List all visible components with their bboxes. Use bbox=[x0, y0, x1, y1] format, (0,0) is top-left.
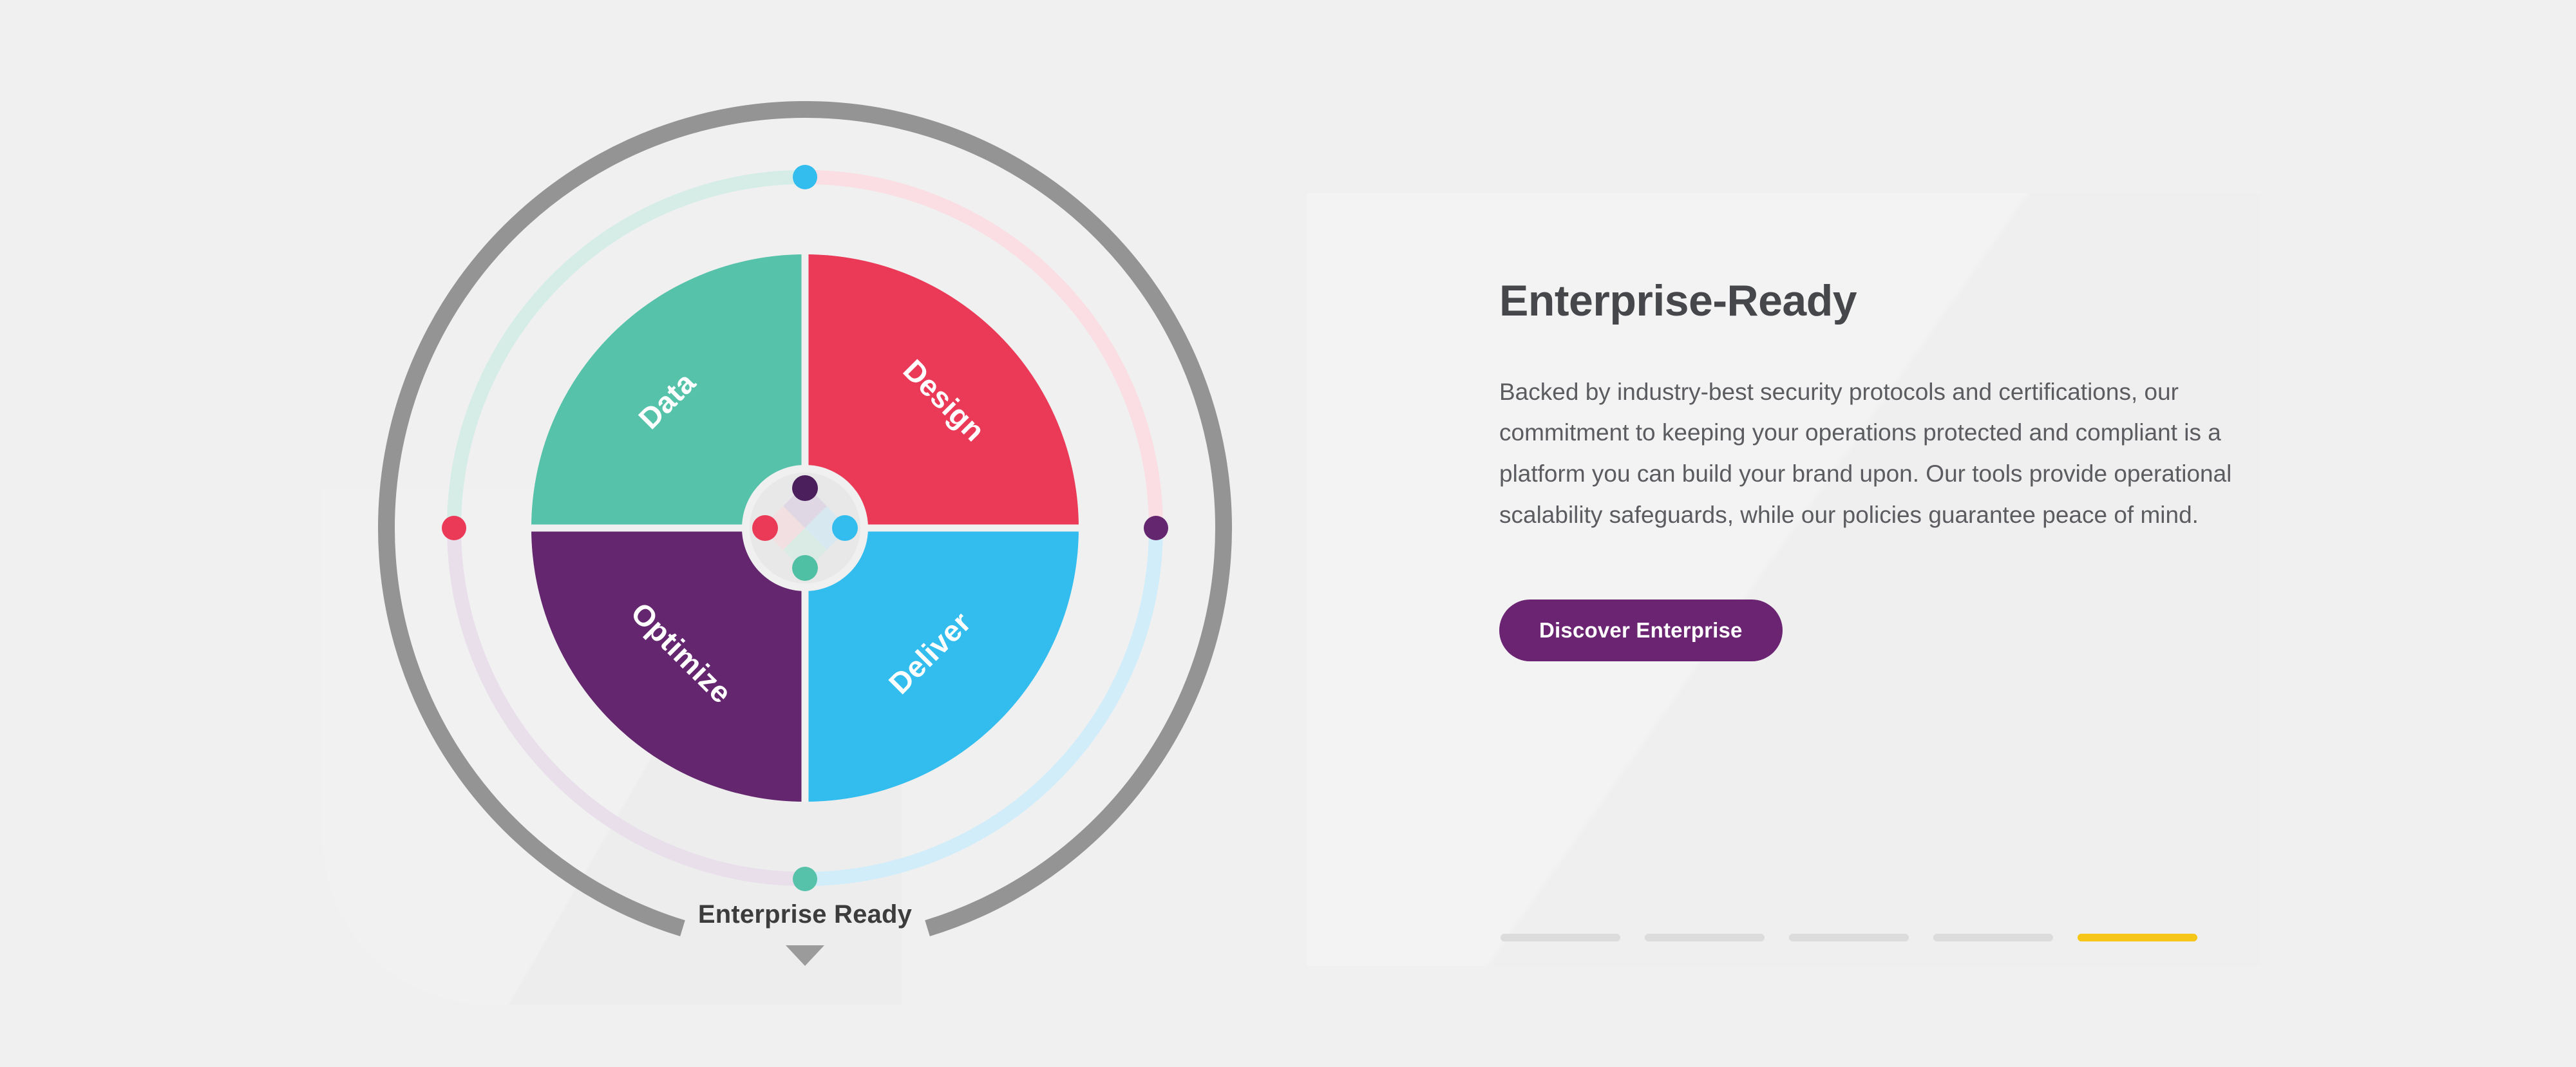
discover-enterprise-button[interactable]: Discover Enterprise bbox=[1499, 600, 1783, 661]
chevron-down-icon bbox=[786, 945, 824, 966]
hub-dot-bottom bbox=[792, 555, 818, 581]
ring-dot-optimize bbox=[793, 867, 817, 891]
ring-dot-deliver bbox=[1144, 516, 1168, 540]
enterprise-ready-wheel: Data Design Deliver Optimize Enterprise … bbox=[367, 84, 1243, 985]
slide-root: Data Design Deliver Optimize Enterprise … bbox=[0, 0, 2576, 1067]
pagination-bar-2[interactable] bbox=[1645, 934, 1765, 941]
wheel-caption: Enterprise Ready bbox=[367, 900, 1243, 929]
body-paragraph: Backed by industry-best security protoco… bbox=[1499, 372, 2240, 536]
ring-dot-data bbox=[442, 516, 466, 540]
center-hub bbox=[742, 465, 868, 591]
pagination-bar-5[interactable] bbox=[2078, 934, 2197, 941]
page-title: Enterprise-Ready bbox=[1499, 277, 2272, 325]
pagination-bar-1[interactable] bbox=[1501, 934, 1620, 941]
hub-dot-left bbox=[752, 515, 778, 541]
hub-dot-top bbox=[792, 475, 818, 501]
hub-dot-right bbox=[832, 515, 858, 541]
pagination-bar-4[interactable] bbox=[1933, 934, 2053, 941]
carousel-pagination[interactable] bbox=[1501, 934, 2197, 941]
ring-dot-design bbox=[793, 165, 817, 189]
pagination-bar-3[interactable] bbox=[1789, 934, 1909, 941]
content-panel: Enterprise-Ready Backed by industry-best… bbox=[1499, 277, 2272, 661]
